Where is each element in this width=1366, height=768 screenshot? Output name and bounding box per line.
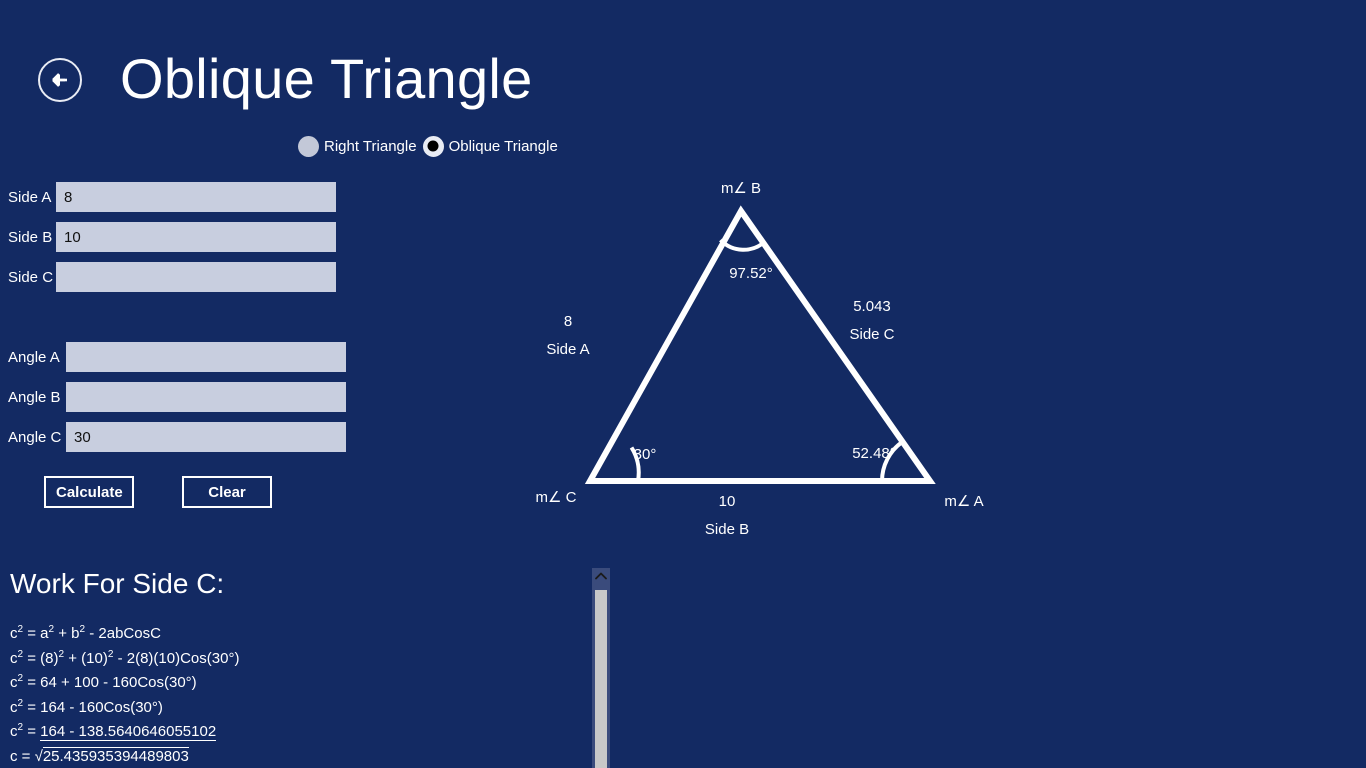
label-side-a: Side A bbox=[8, 189, 56, 206]
work-line-4: c2 = 164 - 160Cos(30°) bbox=[10, 696, 575, 721]
field-row-side-c: Side C bbox=[8, 262, 336, 292]
field-row-angle-b: Angle B bbox=[8, 382, 346, 412]
side-a-name: Side A bbox=[546, 341, 589, 358]
input-angle-b[interactable] bbox=[66, 382, 346, 412]
vertex-label-bottom-right: m∠ A bbox=[944, 493, 983, 510]
input-side-a[interactable] bbox=[56, 182, 336, 212]
label-angle-b: Angle B bbox=[8, 389, 66, 406]
work-line-6: c = √25.435935394489803 bbox=[10, 745, 575, 768]
angle-value-bottom-right: 52.48° bbox=[852, 445, 896, 462]
label-angle-a: Angle A bbox=[8, 349, 66, 366]
triangle-diagram: m∠ B m∠ C m∠ A 97.52° 30° 52.48° 8 Side … bbox=[480, 160, 1040, 560]
scrollbar-thumb[interactable] bbox=[595, 590, 607, 768]
work-scrollbar[interactable] bbox=[592, 568, 610, 768]
side-b-name: Side B bbox=[705, 521, 749, 538]
input-side-b[interactable] bbox=[56, 222, 336, 252]
side-c-value: 5.043 bbox=[853, 298, 891, 315]
side-c-name: Side C bbox=[849, 326, 894, 343]
field-row-side-b: Side B bbox=[8, 222, 336, 252]
clear-button[interactable]: Clear bbox=[182, 476, 272, 508]
chevron-up-icon[interactable] bbox=[592, 568, 610, 586]
work-heading: Work For Side C: bbox=[10, 568, 224, 600]
vertex-label-bottom-left: m∠ C bbox=[536, 489, 577, 506]
field-row-side-a: Side A bbox=[8, 182, 336, 212]
work-line-3: c2 = 64 + 100 - 160Cos(30°) bbox=[10, 671, 575, 696]
label-angle-c: Angle C bbox=[8, 429, 66, 446]
input-form: Side A Side B Side C Angle A Angle B Ang… bbox=[0, 0, 480, 560]
input-angle-c[interactable] bbox=[66, 422, 346, 452]
angle-value-top: 97.52° bbox=[729, 265, 773, 282]
work-line-2: c2 = (8)2 + (10)2 - 2(8)(10)Cos(30°) bbox=[10, 647, 575, 672]
side-a-value: 8 bbox=[564, 313, 572, 330]
work-output: c2 = a2 + b2 - 2abCosC c2 = (8)2 + (10)2… bbox=[10, 622, 575, 768]
work-line-1: c2 = a2 + b2 - 2abCosC bbox=[10, 622, 575, 647]
field-row-angle-c: Angle C bbox=[8, 422, 346, 452]
angle-value-bottom-left: 30° bbox=[634, 446, 657, 463]
field-row-angle-a: Angle A bbox=[8, 342, 346, 372]
input-side-c[interactable] bbox=[56, 262, 336, 292]
work-line-5: c2 = 164 - 138.5640646055102 bbox=[10, 720, 575, 745]
label-side-b: Side B bbox=[8, 229, 56, 246]
calculate-button[interactable]: Calculate bbox=[44, 476, 134, 508]
input-angle-a[interactable] bbox=[66, 342, 346, 372]
vertex-label-top: m∠ B bbox=[721, 180, 761, 197]
label-side-c: Side C bbox=[8, 269, 56, 286]
app-root: Oblique Triangle Right Triangle Oblique … bbox=[0, 0, 1366, 768]
side-b-value: 10 bbox=[719, 493, 736, 510]
